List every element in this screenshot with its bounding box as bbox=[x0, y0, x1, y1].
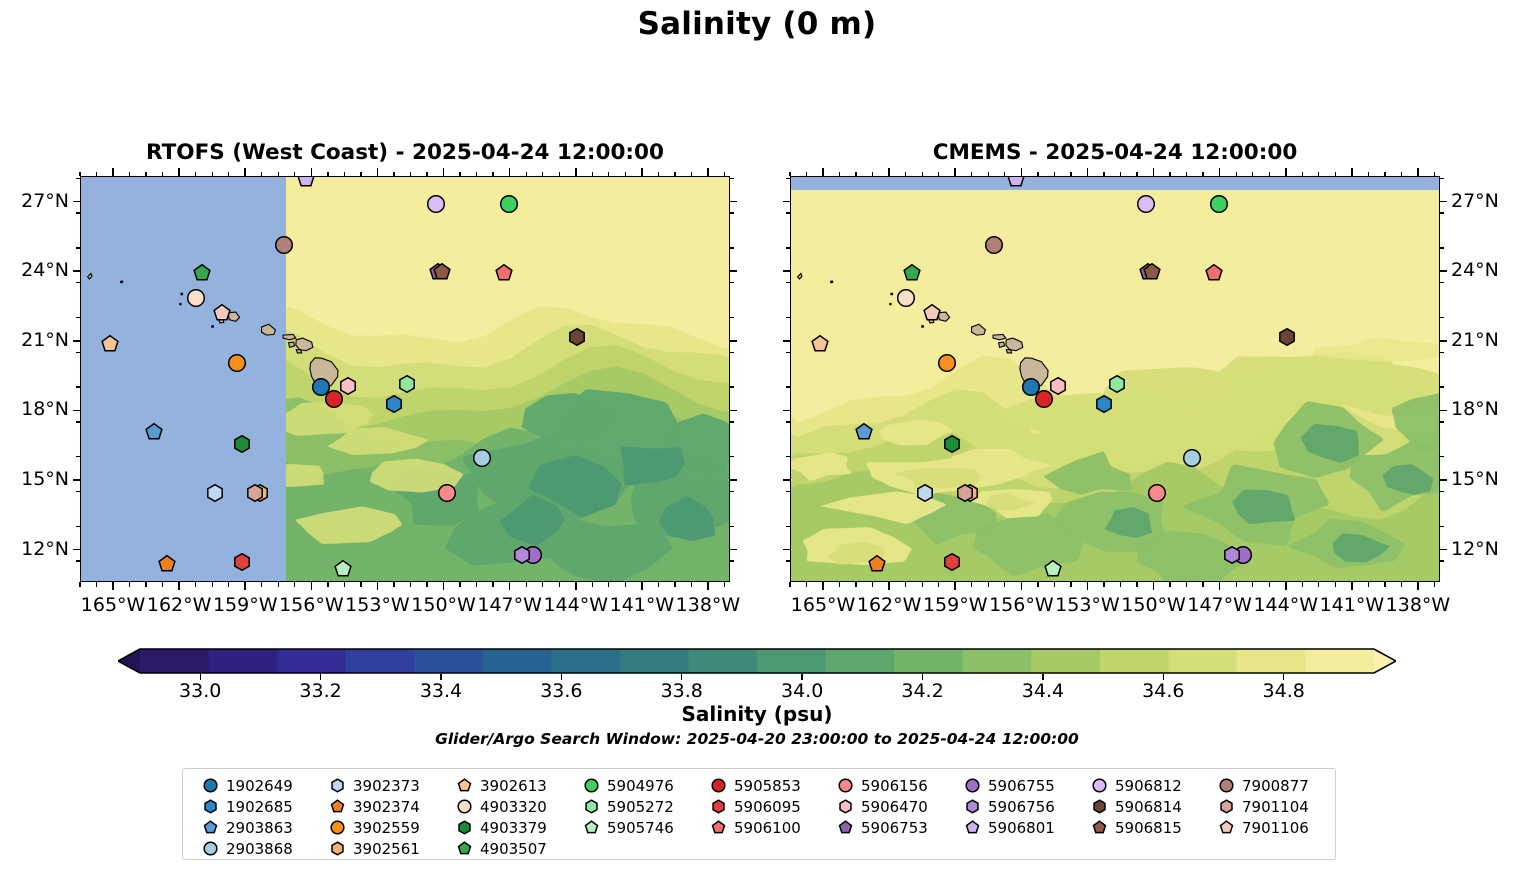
y-tick-major bbox=[73, 549, 80, 551]
legend-item[interactable]: 1902685 bbox=[191, 796, 318, 817]
legend-marker-icon bbox=[455, 819, 473, 837]
legend-item-label: 4903507 bbox=[480, 840, 547, 858]
legend-item-label: 1902685 bbox=[226, 798, 293, 816]
x-tick-minor bbox=[905, 582, 906, 587]
legend-item[interactable]: 7901106 bbox=[1207, 817, 1334, 838]
float-marker[interactable] bbox=[186, 288, 205, 307]
x-tick-minor bbox=[1335, 582, 1336, 587]
x-tick-major bbox=[377, 168, 379, 176]
float-marker[interactable] bbox=[437, 483, 456, 502]
legend-marker-icon bbox=[836, 819, 854, 837]
x-tick-minor bbox=[1070, 172, 1071, 177]
y-tick-major bbox=[783, 549, 790, 551]
x-axis-label: 138°W bbox=[1378, 594, 1458, 616]
legend-item-label: 5906470 bbox=[861, 798, 928, 816]
float-marker[interactable] bbox=[473, 448, 492, 467]
y-tick-minor bbox=[76, 282, 80, 283]
float-marker[interactable] bbox=[1147, 483, 1166, 502]
y-tick-major bbox=[1440, 549, 1447, 551]
legend-marker-icon bbox=[1090, 798, 1108, 816]
x-tick-minor bbox=[971, 172, 972, 177]
x-tick-minor bbox=[1302, 172, 1303, 177]
float-marker[interactable] bbox=[1209, 194, 1228, 213]
float-marker[interactable] bbox=[213, 303, 232, 322]
legend-column: 5905853 5906095 5906100 bbox=[699, 775, 826, 859]
x-tick-minor bbox=[839, 172, 840, 177]
x-tick-major bbox=[822, 582, 824, 590]
x-tick-minor bbox=[162, 172, 163, 177]
float-marker[interactable] bbox=[384, 395, 403, 414]
float-marker[interactable] bbox=[499, 194, 518, 213]
y-tick-major bbox=[1440, 479, 1447, 481]
legend-grid: 1902649 1902685 2903863 2903868 3902373 … bbox=[191, 775, 1334, 859]
x-tick-minor bbox=[1384, 582, 1385, 587]
x-tick-minor bbox=[526, 582, 527, 587]
x-tick-minor bbox=[294, 582, 295, 587]
legend-marker-icon bbox=[328, 798, 346, 816]
legend-marker-icon bbox=[328, 840, 346, 858]
float-marker[interactable] bbox=[338, 376, 357, 395]
y-tick-major bbox=[1440, 201, 1447, 203]
x-tick-minor bbox=[1103, 172, 1104, 177]
colorbar-axis-label: Salinity (psu) bbox=[0, 702, 1514, 726]
legend-item-label: 5906753 bbox=[861, 819, 928, 837]
legend-column: 5906156 5906470 5906753 bbox=[826, 775, 953, 859]
float-marker[interactable] bbox=[246, 483, 265, 502]
x-tick-minor bbox=[145, 172, 146, 177]
y-tick-minor bbox=[730, 491, 734, 492]
x-tick-minor bbox=[658, 172, 659, 177]
legend-item[interactable]: 4903379 bbox=[445, 817, 572, 838]
x-tick-minor bbox=[839, 582, 840, 587]
legend-item[interactable]: 5905853 bbox=[699, 775, 826, 796]
x-tick-minor bbox=[278, 582, 279, 587]
float-marker[interactable] bbox=[228, 353, 247, 372]
legend-item-label: 1902649 bbox=[226, 777, 293, 795]
x-tick-major bbox=[575, 168, 577, 176]
x-tick-minor bbox=[905, 172, 906, 177]
x-tick-minor bbox=[1335, 172, 1336, 177]
y-tick-major bbox=[730, 549, 737, 551]
float-marker[interactable] bbox=[193, 264, 212, 283]
x-tick-minor bbox=[988, 582, 989, 587]
float-marker[interactable] bbox=[433, 263, 452, 282]
legend-marker-icon bbox=[963, 798, 981, 816]
float-marker[interactable] bbox=[1044, 560, 1063, 579]
float-marker[interactable] bbox=[512, 546, 531, 565]
float-marker[interactable] bbox=[903, 264, 922, 283]
legend-item[interactable]: 2903863 bbox=[191, 817, 318, 838]
float-marker[interactable] bbox=[1094, 395, 1113, 414]
x-tick-major bbox=[443, 582, 445, 590]
legend-marker-icon bbox=[709, 798, 727, 816]
legend-column: 3902613 4903320 4903379 4903507 bbox=[445, 775, 572, 859]
x-tick-major bbox=[1153, 582, 1155, 590]
legend-item[interactable]: 4903507 bbox=[445, 838, 572, 859]
x-tick-minor bbox=[459, 582, 460, 587]
x-tick-minor bbox=[1434, 582, 1435, 587]
legend-item[interactable]: 2903868 bbox=[191, 838, 318, 859]
x-tick-minor bbox=[426, 582, 427, 587]
float-marker[interactable] bbox=[1006, 176, 1025, 189]
colorbar-gradient bbox=[118, 648, 1396, 674]
legend-item-label: 4903320 bbox=[480, 798, 547, 816]
x-tick-major bbox=[509, 168, 511, 176]
legend-item-label: 3902613 bbox=[480, 777, 547, 795]
float-legend[interactable]: 1902649 1902685 2903863 2903868 3902373 … bbox=[182, 768, 1336, 860]
x-tick-minor bbox=[96, 172, 97, 177]
float-marker[interactable] bbox=[274, 236, 293, 255]
y-tick-minor bbox=[730, 352, 734, 353]
x-tick-minor bbox=[1269, 582, 1270, 587]
float-marker[interactable] bbox=[334, 560, 353, 579]
float-marker[interactable] bbox=[810, 335, 829, 354]
y-tick-minor bbox=[76, 352, 80, 353]
legend-item[interactable]: 5906156 bbox=[826, 775, 953, 796]
y-tick-minor bbox=[730, 282, 734, 283]
x-tick-minor bbox=[855, 172, 856, 177]
legend-item[interactable]: 5906814 bbox=[1080, 796, 1207, 817]
x-tick-minor bbox=[922, 172, 923, 177]
legend-marker-icon bbox=[836, 777, 854, 795]
y-tick-minor bbox=[1440, 560, 1444, 561]
x-tick-minor bbox=[625, 582, 626, 587]
x-tick-minor bbox=[129, 582, 130, 587]
legend-marker-icon bbox=[201, 840, 219, 858]
legend-item[interactable]: 5905272 bbox=[572, 796, 699, 817]
float-marker[interactable] bbox=[916, 483, 935, 502]
x-tick-minor bbox=[360, 172, 361, 177]
legend-marker-icon bbox=[709, 777, 727, 795]
legend-column: 5906812 5906814 5906815 bbox=[1080, 775, 1207, 859]
x-tick-minor bbox=[806, 172, 807, 177]
legend-item-label: 5906815 bbox=[1115, 819, 1182, 837]
legend-item-label: 5906156 bbox=[861, 777, 928, 795]
y-tick-minor bbox=[1440, 386, 1444, 387]
legend-item-label: 2903863 bbox=[226, 819, 293, 837]
legend-item[interactable]: 5906756 bbox=[953, 796, 1080, 817]
y-tick-minor bbox=[786, 456, 790, 457]
float-marker[interactable] bbox=[867, 555, 886, 574]
legend-marker-icon bbox=[1217, 777, 1235, 795]
y-tick-minor bbox=[730, 456, 734, 457]
float-marker[interactable] bbox=[144, 423, 163, 442]
legend-item-label: 5906801 bbox=[988, 819, 1055, 837]
legend-item-label: 5905272 bbox=[607, 798, 674, 816]
x-tick-minor bbox=[393, 582, 394, 587]
legend-column: 5906755 5906756 5906801 bbox=[953, 775, 1080, 859]
legend-item-label: 3902559 bbox=[353, 819, 420, 837]
y-tick-minor bbox=[730, 178, 734, 179]
x-tick-minor bbox=[691, 582, 692, 587]
float-marker[interactable] bbox=[1143, 263, 1162, 282]
legend-item[interactable]: 5906815 bbox=[1080, 817, 1207, 838]
x-tick-minor bbox=[1169, 172, 1170, 177]
legend-item[interactable]: 3902373 bbox=[318, 775, 445, 796]
x-tick-minor bbox=[872, 582, 873, 587]
legend-item[interactable]: 5906812 bbox=[1080, 775, 1207, 796]
x-tick-minor bbox=[1186, 172, 1187, 177]
x-tick-minor bbox=[1054, 172, 1055, 177]
legend-item[interactable]: 5906095 bbox=[699, 796, 826, 817]
y-tick-minor bbox=[786, 560, 790, 561]
colorbar-tick-label: 33.4 bbox=[420, 680, 462, 702]
legend-marker-icon bbox=[709, 819, 727, 837]
y-tick-minor bbox=[786, 212, 790, 213]
y-tick-major bbox=[783, 201, 790, 203]
legend-column: 1902649 1902685 2903863 2903868 bbox=[191, 775, 318, 859]
y-axis-label: 12°N bbox=[0, 538, 69, 560]
float-marker[interactable] bbox=[938, 353, 957, 372]
legend-item[interactable]: 5906755 bbox=[953, 775, 1080, 796]
legend-item-label: 7901106 bbox=[1242, 819, 1309, 837]
y-axis-label: 21°N bbox=[0, 329, 69, 351]
float-marker[interactable] bbox=[896, 288, 915, 307]
legend-item[interactable]: 3902613 bbox=[445, 775, 572, 796]
float-marker[interactable] bbox=[942, 553, 961, 572]
legend-marker-icon bbox=[1217, 819, 1235, 837]
x-tick-minor bbox=[1236, 172, 1237, 177]
x-tick-major bbox=[1285, 168, 1287, 176]
x-tick-minor bbox=[988, 172, 989, 177]
y-tick-minor bbox=[730, 386, 734, 387]
legend-item[interactable]: 7901104 bbox=[1207, 796, 1334, 817]
x-tick-major bbox=[1219, 168, 1221, 176]
legend-column: 7900877 7901104 7901106 bbox=[1207, 775, 1334, 859]
x-tick-major bbox=[641, 168, 643, 176]
x-tick-minor bbox=[855, 582, 856, 587]
x-tick-minor bbox=[922, 582, 923, 587]
float-marker[interactable] bbox=[296, 176, 315, 189]
legend-item[interactable]: 5906100 bbox=[699, 817, 826, 838]
legend-item-label: 5906100 bbox=[734, 819, 801, 837]
colorbar-tick-label: 33.0 bbox=[179, 680, 221, 702]
y-tick-minor bbox=[786, 491, 790, 492]
colorbar-ticks: 33.033.233.433.633.834.034.234.434.634.8 bbox=[118, 674, 1396, 696]
x-tick-major bbox=[1351, 582, 1353, 590]
x-tick-minor bbox=[212, 172, 213, 177]
y-axis-label: 18°N bbox=[0, 398, 69, 420]
x-tick-minor bbox=[1004, 582, 1005, 587]
legend-item[interactable]: 5904976 bbox=[572, 775, 699, 796]
x-tick-minor bbox=[410, 582, 411, 587]
legend-item[interactable]: 5906801 bbox=[953, 817, 1080, 838]
y-axis-label: 27°N bbox=[1451, 190, 1514, 212]
x-tick-minor bbox=[492, 582, 493, 587]
x-tick-minor bbox=[228, 172, 229, 177]
y-tick-major bbox=[730, 201, 737, 203]
x-tick-major bbox=[1417, 168, 1419, 176]
x-tick-minor bbox=[1120, 172, 1121, 177]
y-axis-label: 24°N bbox=[0, 259, 69, 281]
legend-item[interactable]: 5906753 bbox=[826, 817, 953, 838]
x-tick-minor bbox=[658, 582, 659, 587]
colorbar-tick-label: 34.4 bbox=[1022, 680, 1064, 702]
y-tick-major bbox=[73, 340, 80, 342]
float-marker[interactable] bbox=[942, 434, 961, 453]
x-tick-major bbox=[1285, 582, 1287, 590]
y-axis-label: 24°N bbox=[1451, 259, 1514, 281]
float-marker[interactable] bbox=[398, 374, 417, 393]
float-marker[interactable] bbox=[923, 303, 942, 322]
y-tick-minor bbox=[786, 247, 790, 248]
x-tick-minor bbox=[1318, 582, 1319, 587]
legend-item-label: 7900877 bbox=[1242, 777, 1309, 795]
y-tick-major bbox=[73, 479, 80, 481]
y-tick-major bbox=[730, 340, 737, 342]
x-tick-minor bbox=[1368, 172, 1369, 177]
x-tick-minor bbox=[459, 172, 460, 177]
y-tick-minor bbox=[1440, 178, 1444, 179]
x-tick-minor bbox=[1252, 582, 1253, 587]
x-tick-minor bbox=[195, 582, 196, 587]
float-marker[interactable] bbox=[157, 555, 176, 574]
x-tick-minor bbox=[1070, 582, 1071, 587]
legend-item[interactable]: 5905746 bbox=[572, 817, 699, 838]
map-panel-cmems[interactable] bbox=[790, 176, 1440, 582]
legend-item[interactable]: 5906470 bbox=[826, 796, 953, 817]
x-tick-minor bbox=[1136, 172, 1137, 177]
x-tick-minor bbox=[1169, 582, 1170, 587]
x-tick-minor bbox=[542, 582, 543, 587]
legend-marker-icon bbox=[328, 777, 346, 795]
legend-item-label: 5906756 bbox=[988, 798, 1055, 816]
float-marker[interactable] bbox=[1048, 376, 1067, 395]
x-tick-minor bbox=[872, 172, 873, 177]
y-tick-minor bbox=[786, 386, 790, 387]
float-marker[interactable] bbox=[1183, 448, 1202, 467]
legend-item[interactable]: 7900877 bbox=[1207, 775, 1334, 796]
float-marker[interactable] bbox=[567, 328, 586, 347]
legend-marker-icon bbox=[836, 798, 854, 816]
x-tick-major bbox=[244, 582, 246, 590]
x-tick-minor bbox=[492, 172, 493, 177]
x-axis-label: 138°W bbox=[668, 594, 748, 616]
float-marker[interactable] bbox=[854, 423, 873, 442]
y-tick-minor bbox=[1440, 282, 1444, 283]
colorbar bbox=[118, 648, 1396, 674]
x-tick-major bbox=[888, 582, 890, 590]
x-tick-major bbox=[244, 168, 246, 176]
legend-item[interactable]: 3902374 bbox=[318, 796, 445, 817]
colorbar-tick-label: 33.2 bbox=[299, 680, 341, 702]
legend-marker-icon bbox=[1090, 819, 1108, 837]
float-marker[interactable] bbox=[1205, 264, 1224, 283]
x-tick-minor bbox=[410, 172, 411, 177]
y-axis-label: 12°N bbox=[1451, 538, 1514, 560]
float-marker[interactable] bbox=[426, 194, 445, 213]
x-tick-minor bbox=[1368, 582, 1369, 587]
legend-item-label: 3902561 bbox=[353, 840, 420, 858]
x-tick-minor bbox=[674, 172, 675, 177]
float-marker[interactable] bbox=[956, 483, 975, 502]
x-tick-major bbox=[1087, 168, 1089, 176]
x-tick-major bbox=[112, 168, 114, 176]
y-tick-major bbox=[73, 270, 80, 272]
x-tick-major bbox=[377, 582, 379, 590]
x-tick-minor bbox=[625, 172, 626, 177]
colorbar-tick-label: 34.0 bbox=[781, 680, 823, 702]
y-tick-major bbox=[73, 201, 80, 203]
float-marker[interactable] bbox=[495, 264, 514, 283]
legend-marker-icon bbox=[1217, 798, 1235, 816]
y-tick-minor bbox=[1440, 317, 1444, 318]
x-tick-minor bbox=[806, 582, 807, 587]
x-tick-major bbox=[509, 582, 511, 590]
y-tick-major bbox=[1440, 270, 1447, 272]
page-title: Salinity (0 m) bbox=[0, 6, 1514, 42]
legend-item[interactable]: 1902649 bbox=[191, 775, 318, 796]
colorbar-tick-label: 34.8 bbox=[1263, 680, 1305, 702]
x-tick-minor bbox=[691, 172, 692, 177]
legend-item-label: 5905746 bbox=[607, 819, 674, 837]
legend-item-label: 7901104 bbox=[1242, 798, 1309, 816]
y-tick-minor bbox=[1440, 526, 1444, 527]
y-tick-minor bbox=[786, 282, 790, 283]
x-tick-minor bbox=[1037, 172, 1038, 177]
x-tick-major bbox=[822, 168, 824, 176]
legend-item[interactable]: 3902561 bbox=[318, 838, 445, 859]
x-tick-minor bbox=[1434, 172, 1435, 177]
y-tick-major bbox=[783, 270, 790, 272]
y-tick-minor bbox=[1440, 212, 1444, 213]
map-panel-rtofs[interactable] bbox=[80, 176, 730, 582]
y-tick-major bbox=[73, 410, 80, 412]
y-tick-major bbox=[730, 410, 737, 412]
float-marker[interactable] bbox=[232, 553, 251, 572]
x-tick-minor bbox=[1054, 582, 1055, 587]
float-marker[interactable] bbox=[232, 434, 251, 453]
y-tick-minor bbox=[76, 421, 80, 422]
legend-marker-icon bbox=[1090, 777, 1108, 795]
y-tick-minor bbox=[76, 491, 80, 492]
legend-marker-icon bbox=[963, 819, 981, 837]
float-marker[interactable] bbox=[206, 483, 225, 502]
y-tick-major bbox=[730, 479, 737, 481]
legend-item-label: 5906755 bbox=[988, 777, 1055, 795]
y-tick-major bbox=[783, 340, 790, 342]
float-marker[interactable] bbox=[1222, 546, 1241, 565]
legend-marker-icon bbox=[582, 819, 600, 837]
y-tick-minor bbox=[1440, 352, 1444, 353]
legend-marker-icon bbox=[582, 798, 600, 816]
panel-title-rtofs: RTOFS (West Coast) - 2025-04-24 12:00:00 bbox=[80, 140, 730, 165]
y-tick-minor bbox=[76, 456, 80, 457]
x-tick-major bbox=[1021, 582, 1023, 590]
x-tick-minor bbox=[145, 582, 146, 587]
float-marker[interactable] bbox=[1277, 328, 1296, 347]
x-tick-minor bbox=[592, 172, 593, 177]
legend-item[interactable]: 4903320 bbox=[445, 796, 572, 817]
float-marker[interactable] bbox=[984, 236, 1003, 255]
x-tick-minor bbox=[261, 172, 262, 177]
legend-marker-icon bbox=[455, 840, 473, 858]
float-marker[interactable] bbox=[1108, 374, 1127, 393]
x-tick-minor bbox=[393, 172, 394, 177]
x-tick-minor bbox=[344, 582, 345, 587]
x-tick-minor bbox=[1318, 172, 1319, 177]
legend-item[interactable]: 3902559 bbox=[318, 817, 445, 838]
float-marker[interactable] bbox=[100, 335, 119, 354]
y-axis-label: 15°N bbox=[0, 468, 69, 490]
legend-item-label: 3902373 bbox=[353, 777, 420, 795]
y-tick-minor bbox=[76, 212, 80, 213]
float-marker[interactable] bbox=[1136, 194, 1155, 213]
legend-marker-icon bbox=[582, 777, 600, 795]
y-tick-minor bbox=[76, 178, 80, 179]
y-tick-minor bbox=[786, 526, 790, 527]
x-tick-minor bbox=[608, 172, 609, 177]
